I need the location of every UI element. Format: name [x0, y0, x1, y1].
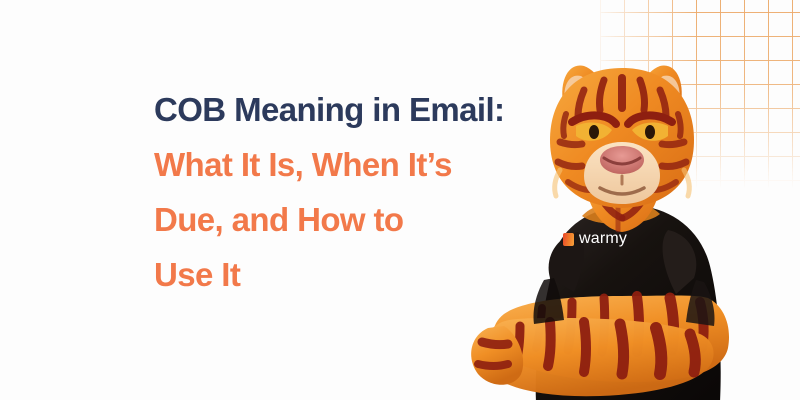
headline-line-3: Due, and How to	[154, 192, 584, 247]
warmy-logo-text: warmy	[579, 231, 627, 247]
headline-line-1: COB Meaning in Email:	[154, 82, 584, 137]
mascot-nose	[600, 146, 644, 174]
grid-pattern-decoration	[600, 0, 800, 188]
mascot-ear-right	[639, 65, 682, 112]
mascot-eye-right	[632, 123, 668, 141]
headline-line-4: Use It	[154, 247, 584, 302]
headline-line-2: What It Is, When It’s	[154, 137, 584, 192]
mascot-forearm-front	[482, 318, 714, 396]
headline-block: COB Meaning in Email: What It Is, When I…	[154, 82, 584, 302]
mascot-forearm-back	[493, 296, 729, 383]
mascot-neck	[584, 173, 662, 233]
mascot-muzzle	[584, 142, 660, 204]
article-hero-banner: COB Meaning in Email: What It Is, When I…	[0, 0, 800, 400]
